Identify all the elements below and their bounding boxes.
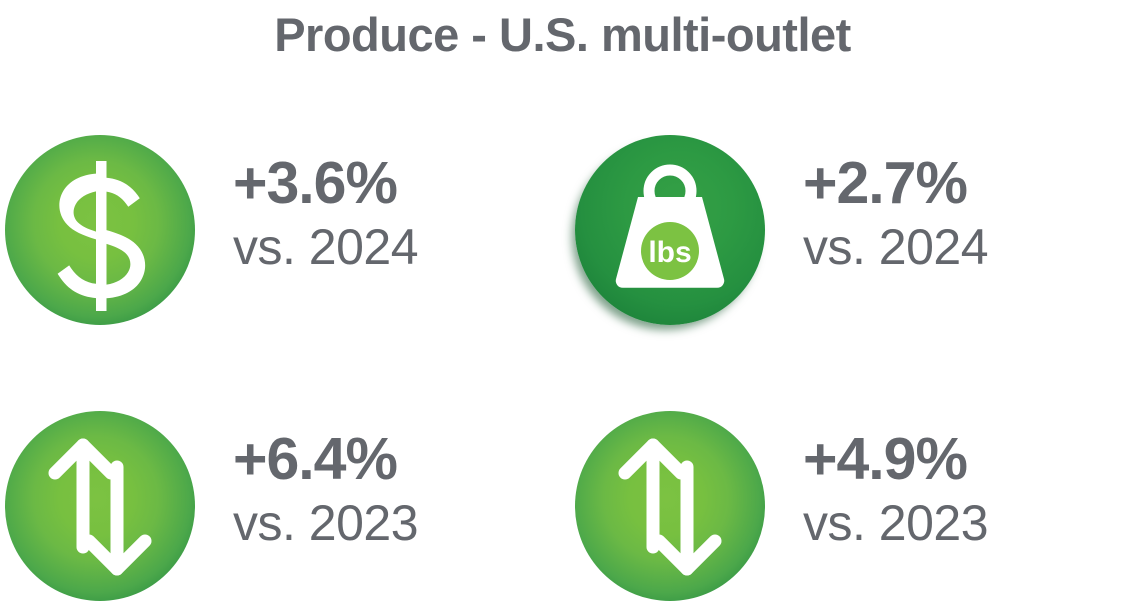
dollar-sign-icon: [5, 135, 195, 325]
produce-stats-infographic: Produce - U.S. multi-outlet +3.6% vs. 20…: [0, 0, 1125, 609]
metric-comparison: vs. 2024: [233, 218, 418, 276]
weight-lbs-icon: lbs: [575, 135, 765, 325]
metric-card-dollar-sales-vs-2024: +3.6% vs. 2024: [0, 118, 562, 363]
metric-value: +6.4%: [233, 428, 418, 492]
metric-card-dollar-sales-vs-2023: +6.4% vs. 2023: [0, 394, 562, 609]
metric-text-block: +6.4% vs. 2023: [233, 428, 418, 552]
metric-value: +2.7%: [803, 152, 988, 216]
metric-comparison: vs. 2023: [233, 494, 418, 552]
up-down-arrows-icon: [575, 411, 765, 601]
metric-value: +4.9%: [803, 428, 988, 492]
metric-text-block: +2.7% vs. 2024: [803, 152, 988, 276]
metric-card-volume-vs-2023: +4.9% vs. 2023: [570, 394, 1125, 609]
metric-grid: +3.6% vs. 2024 lbs +2.7% vs. 2024: [0, 118, 1125, 609]
page-title: Produce - U.S. multi-outlet: [0, 6, 1125, 65]
metric-text-block: +3.6% vs. 2024: [233, 152, 418, 276]
weight-icon-label: lbs: [648, 236, 691, 269]
metric-value: +3.6%: [233, 152, 418, 216]
metric-text-block: +4.9% vs. 2023: [803, 428, 988, 552]
up-down-arrows-icon: [5, 411, 195, 601]
metric-comparison: vs. 2024: [803, 218, 988, 276]
metric-card-volume-lbs-vs-2024: lbs +2.7% vs. 2024: [570, 118, 1125, 363]
metric-comparison: vs. 2023: [803, 494, 988, 552]
